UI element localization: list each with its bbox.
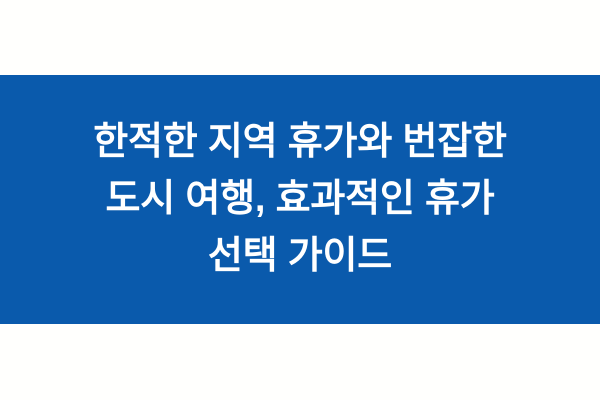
title-band: 한적한 지역 휴가와 번잡한 도시 여행, 효과적인 휴가 선택 가이드 xyxy=(0,75,600,324)
title-line-2: 도시 여행, 효과적인 휴가 xyxy=(24,171,576,228)
banner-canvas: 한적한 지역 휴가와 번잡한 도시 여행, 효과적인 휴가 선택 가이드 xyxy=(0,0,600,400)
title-line-3: 선택 가이드 xyxy=(24,228,576,285)
bottom-margin-area xyxy=(0,324,600,400)
page-title: 한적한 지역 휴가와 번잡한 도시 여행, 효과적인 휴가 선택 가이드 xyxy=(0,114,600,285)
top-margin-area xyxy=(0,0,600,75)
title-line-1: 한적한 지역 휴가와 번잡한 xyxy=(24,114,576,171)
